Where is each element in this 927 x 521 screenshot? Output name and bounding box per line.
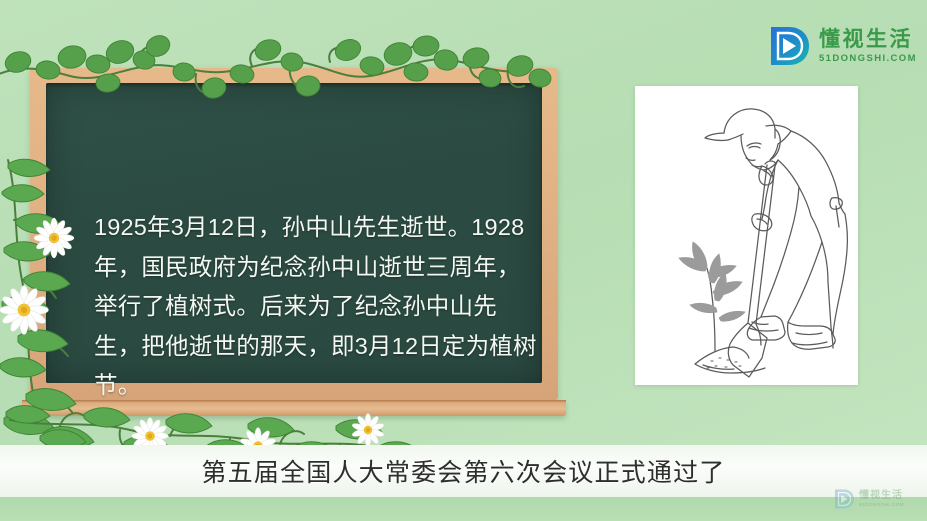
play-d-logo-icon <box>833 488 855 510</box>
blackboard: 1925年3月12日，孙中山先生逝世。1928年，国民政府为纪念孙中山逝世三周年… <box>30 68 558 400</box>
play-d-logo-icon <box>767 24 811 68</box>
watermark-name-cn: 懂视生活 <box>859 491 904 501</box>
blackboard-surface: 1925年3月12日，孙中山先生逝世。1928年，国民政府为纪念孙中山逝世三周年… <box>46 83 542 383</box>
watermark-domain: 51DONGSHI.COM <box>859 503 904 508</box>
brand-watermark: 懂视生活 51DONGSHI.COM <box>833 488 904 510</box>
bottom-strip <box>0 497 927 521</box>
logo-text-block: 懂视生活 51DONGSHI.COM <box>819 29 917 64</box>
watermark-text-block: 懂视生活 51DONGSHI.COM <box>859 491 904 508</box>
logo-domain: 51DONGSHI.COM <box>819 54 917 64</box>
caption-text: 第五届全国人大常委会第六次会议正式通过了 <box>201 453 725 489</box>
illustration-panel <box>635 86 858 385</box>
caption-band: 第五届全国人大常委会第六次会议正式通过了 <box>0 445 927 497</box>
brand-logo[interactable]: 懂视生活 51DONGSHI.COM <box>767 24 917 68</box>
video-frame-stage: 1925年3月12日，孙中山先生逝世。1928年，国民政府为纪念孙中山逝世三周年… <box>0 0 927 521</box>
logo-name-cn: 懂视生活 <box>819 29 917 50</box>
blackboard-ledge <box>22 400 566 416</box>
chalk-paragraph-1: 1925年3月12日，孙中山先生逝世。1928年，国民政府为纪念孙中山逝世三周年… <box>94 208 542 406</box>
man-planting-tree-illustration <box>635 86 858 385</box>
